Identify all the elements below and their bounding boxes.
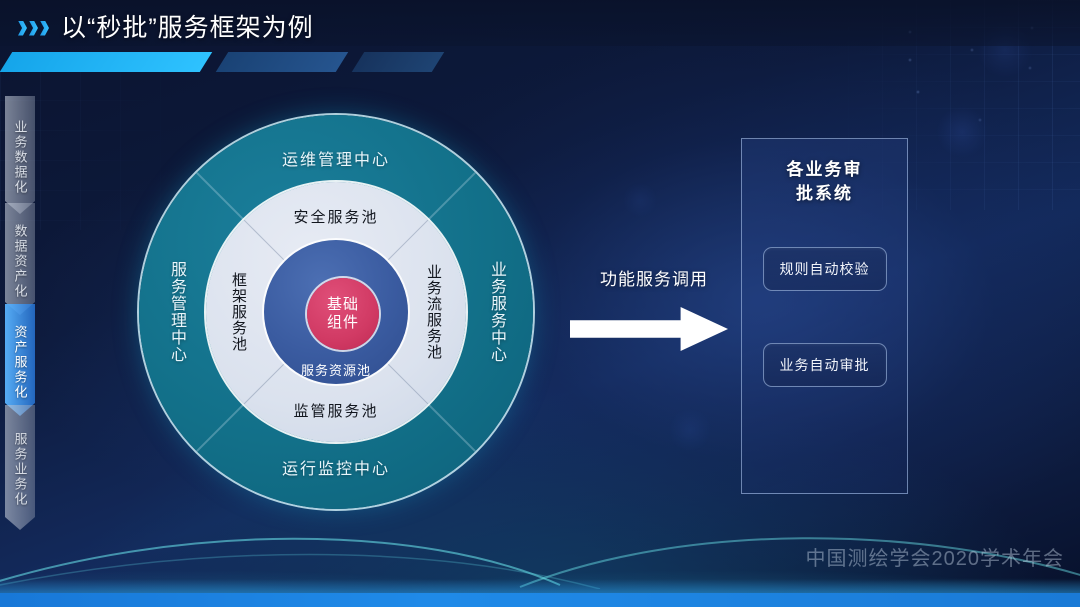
panel-box-rule-auto-validation[interactable]: 规则自动校验 <box>763 247 887 291</box>
outer-label-left: 服务管理中心 <box>164 261 188 363</box>
panel-title-line2: 批系统 <box>742 182 907 206</box>
outer-label-bottom: 运行监控中心 <box>139 455 533 479</box>
approval-systems-panel: 各业务审 批系统 规则自动校验 业务自动审批 <box>741 138 908 494</box>
core-label-line2: 组件 <box>327 314 359 332</box>
accent-bar-1 <box>0 52 212 72</box>
bottom-accent-bar <box>0 593 1080 607</box>
title-underline-bars <box>0 52 700 74</box>
panel-box-business-auto-approval[interactable]: 业务自动审批 <box>763 343 887 387</box>
arrow-right-icon <box>570 307 728 351</box>
outer-label-right: 业务服务中心 <box>484 261 508 363</box>
footer-watermark: 中国测绘学会2020学术年会 <box>806 542 1065 571</box>
core-circle-base-components: 基础 组件 <box>307 278 379 350</box>
panel-title: 各业务审 批系统 <box>742 158 907 206</box>
bottom-bar-glow <box>0 579 1080 595</box>
service-framework-diagram: 运维管理中心 运行监控中心 服务管理中心 业务服务中心 安全服务池 监管服务池 … <box>139 115 533 509</box>
inner-circle-label: 服务资源池 <box>139 360 533 379</box>
middle-label-left: 框架服务池 <box>228 272 249 352</box>
middle-label-right: 业务流服务池 <box>423 264 444 360</box>
core-label-line1: 基础 <box>327 296 359 314</box>
stage-item-data-assetization[interactable]: 数据资产化 <box>5 203 35 315</box>
slide-canvas: 以“秒批”服务框架为例 业务数据化 数据资产化 资产服务化 服务业务化 运维管理… <box>0 0 1080 607</box>
chevron-right-triple-icon <box>18 21 49 36</box>
stage-item-asset-servitization[interactable]: 资产服务化 <box>5 304 35 416</box>
middle-label-top: 安全服务池 <box>139 206 533 227</box>
arrow-label: 功能服务调用 <box>574 265 734 290</box>
accent-bar-2 <box>216 52 348 72</box>
stage-item-service-businessization[interactable]: 服务业务化 <box>5 405 35 530</box>
panel-title-line1: 各业务审 <box>742 158 907 182</box>
page-title-row: 以“秒批”服务框架为例 <box>18 8 314 44</box>
middle-label-bottom: 监管服务池 <box>139 400 533 421</box>
stage-item-business-datafication[interactable]: 业务数据化 <box>5 96 35 214</box>
function-call-arrow-group: 功能服务调用 <box>570 265 735 355</box>
stage-rail: 业务数据化 数据资产化 资产服务化 服务业务化 <box>5 96 35 556</box>
outer-label-top: 运维管理中心 <box>139 146 533 170</box>
accent-bar-3 <box>352 52 444 72</box>
page-title: 以“秒批”服务框架为例 <box>61 8 314 44</box>
